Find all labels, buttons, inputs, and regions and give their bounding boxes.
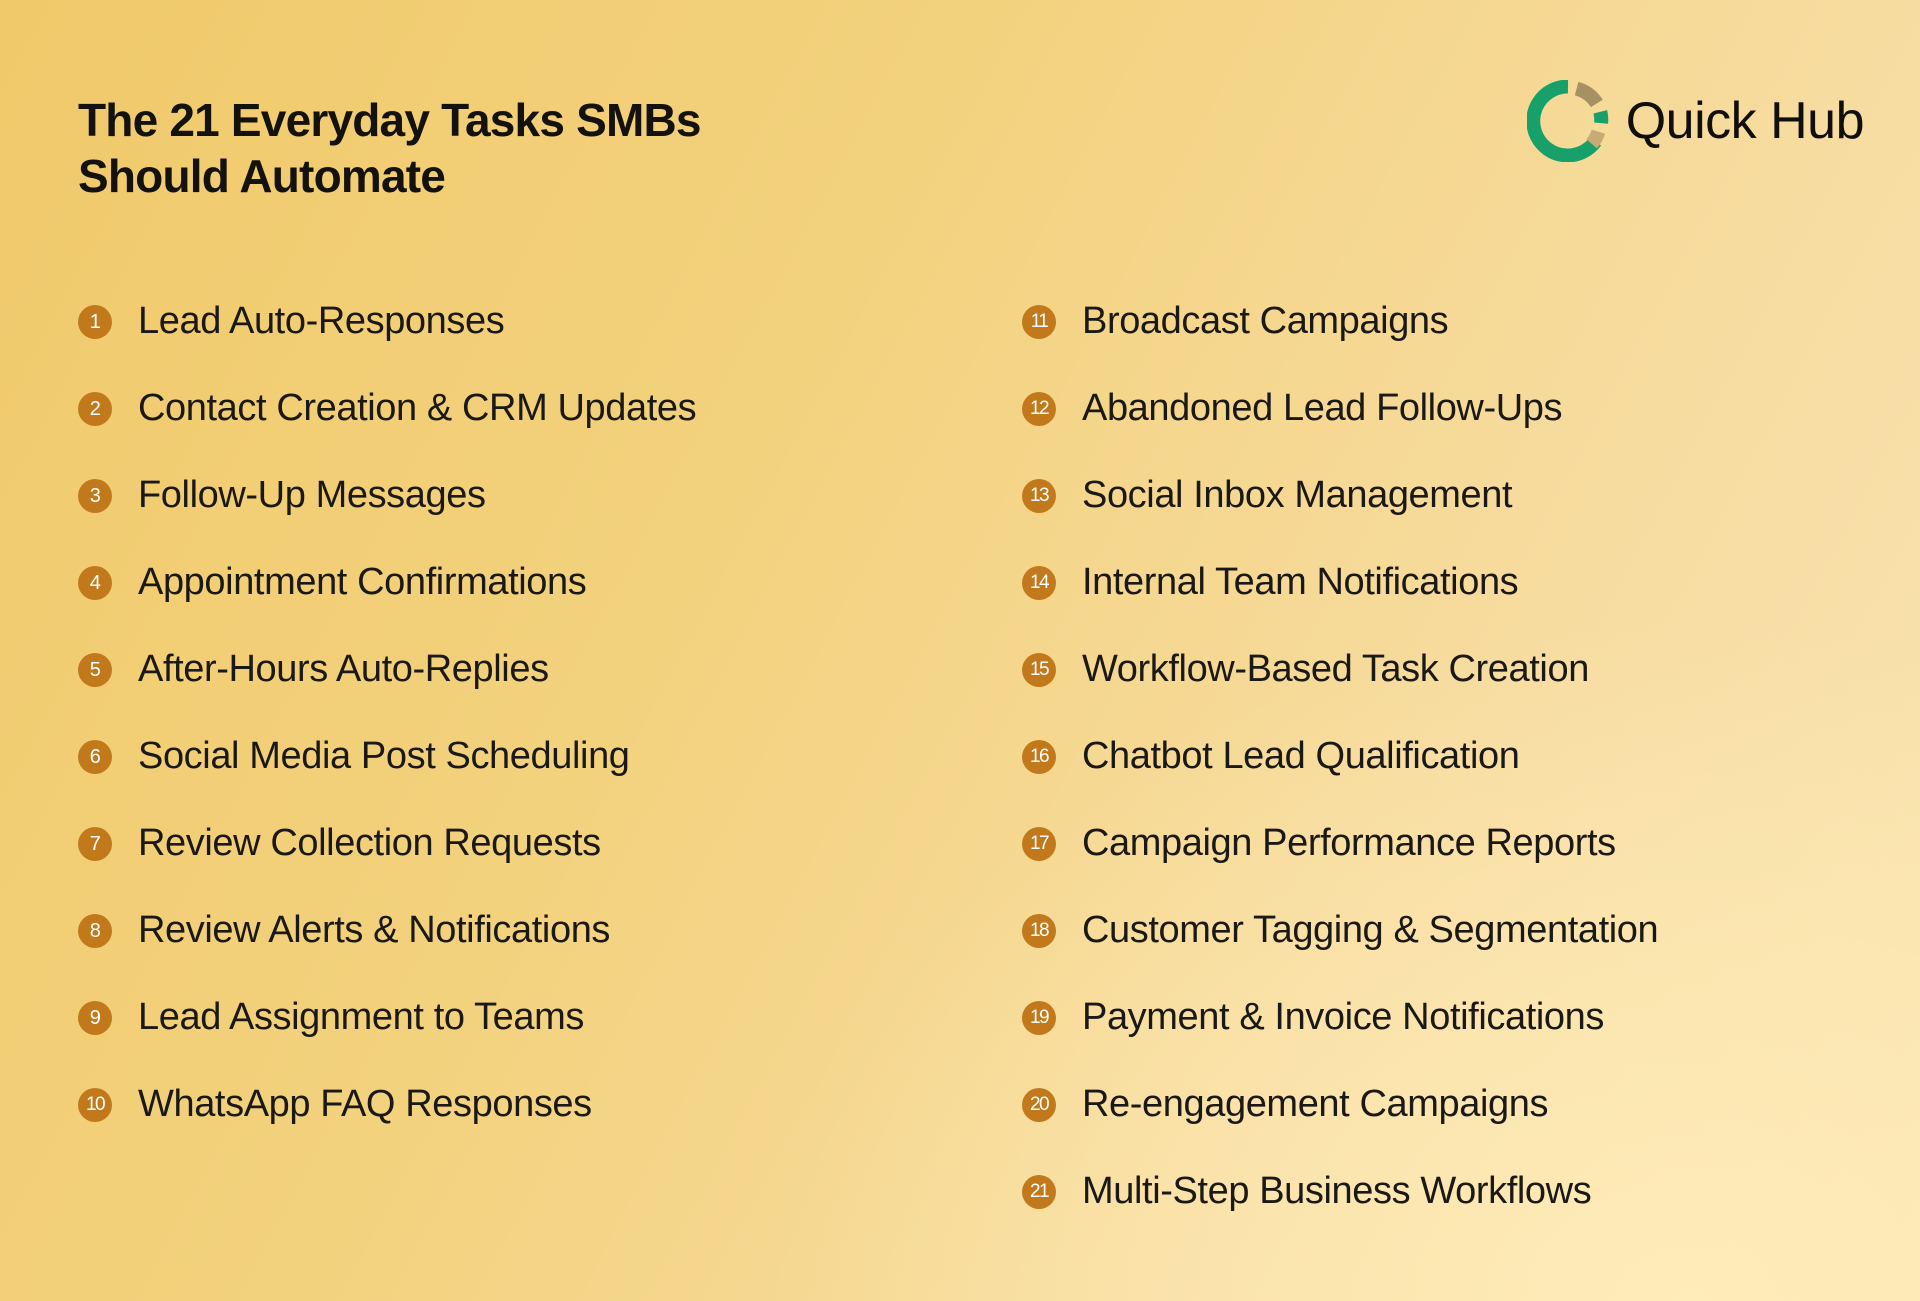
task-column-left: 1Lead Auto-Responses2Contact Creation & …: [0, 278, 1000, 1235]
task-item: 1Lead Auto-Responses: [78, 278, 1000, 365]
task-item: 4Appointment Confirmations: [78, 539, 1000, 626]
task-label: Customer Tagging & Segmentation: [1082, 909, 1658, 952]
task-label: Lead Auto-Responses: [138, 300, 504, 343]
task-label: Re-engagement Campaigns: [1082, 1083, 1548, 1126]
task-number-badge: 12: [1022, 392, 1056, 426]
header: The 21 Everyday Tasks SMBs Should Automa…: [0, 0, 1920, 215]
task-number-badge: 5: [78, 653, 112, 687]
infographic-canvas: The 21 Everyday Tasks SMBs Should Automa…: [0, 0, 1920, 1301]
task-item: 6Social Media Post Scheduling: [78, 713, 1000, 800]
task-list-right: 11Broadcast Campaigns12Abandoned Lead Fo…: [1022, 278, 1920, 1235]
brand-name: Quick Hub: [1626, 95, 1864, 147]
task-item: 19Payment & Invoice Notifications: [1022, 974, 1920, 1061]
task-number-badge: 8: [78, 914, 112, 948]
task-item: 5After-Hours Auto-Replies: [78, 626, 1000, 713]
task-item: 20Re-engagement Campaigns: [1022, 1061, 1920, 1148]
brand-logo: Quick Hub: [1527, 80, 1864, 162]
task-item: 18Customer Tagging & Segmentation: [1022, 887, 1920, 974]
task-label: Abandoned Lead Follow-Ups: [1082, 387, 1562, 430]
segmented-donut-icon: [1527, 80, 1609, 162]
task-column-right: 11Broadcast Campaigns12Abandoned Lead Fo…: [1000, 278, 1920, 1235]
task-number-badge: 16: [1022, 740, 1056, 774]
task-list-left: 1Lead Auto-Responses2Contact Creation & …: [78, 278, 1000, 1148]
task-item: 10WhatsApp FAQ Responses: [78, 1061, 1000, 1148]
task-item: 17Campaign Performance Reports: [1022, 800, 1920, 887]
task-label: Workflow-Based Task Creation: [1082, 648, 1589, 691]
task-columns: 1Lead Auto-Responses2Contact Creation & …: [0, 278, 1920, 1235]
task-item: 7Review Collection Requests: [78, 800, 1000, 887]
task-item: 2Contact Creation & CRM Updates: [78, 365, 1000, 452]
task-item: 16Chatbot Lead Qualification: [1022, 713, 1920, 800]
task-label: Payment & Invoice Notifications: [1082, 996, 1604, 1039]
task-label: Follow-Up Messages: [138, 474, 486, 517]
task-label: Internal Team Notifications: [1082, 561, 1518, 604]
task-label: Multi-Step Business Workflows: [1082, 1170, 1591, 1213]
task-item: 9Lead Assignment to Teams: [78, 974, 1000, 1061]
task-item: 12Abandoned Lead Follow-Ups: [1022, 365, 1920, 452]
task-number-badge: 6: [78, 740, 112, 774]
task-item: 3Follow-Up Messages: [78, 452, 1000, 539]
task-number-badge: 11: [1022, 305, 1056, 339]
task-label: Broadcast Campaigns: [1082, 300, 1448, 343]
task-label: Review Collection Requests: [138, 822, 601, 865]
task-number-badge: 7: [78, 827, 112, 861]
task-number-badge: 4: [78, 566, 112, 600]
task-number-badge: 14: [1022, 566, 1056, 600]
task-item: 14Internal Team Notifications: [1022, 539, 1920, 626]
task-item: 21Multi-Step Business Workflows: [1022, 1148, 1920, 1235]
task-label: Chatbot Lead Qualification: [1082, 735, 1519, 778]
task-label: WhatsApp FAQ Responses: [138, 1083, 592, 1126]
page-title: The 21 Everyday Tasks SMBs Should Automa…: [78, 92, 701, 204]
task-number-badge: 18: [1022, 914, 1056, 948]
task-number-badge: 19: [1022, 1001, 1056, 1035]
task-item: 11Broadcast Campaigns: [1022, 278, 1920, 365]
task-number-badge: 2: [78, 392, 112, 426]
task-number-badge: 20: [1022, 1088, 1056, 1122]
task-label: Social Media Post Scheduling: [138, 735, 630, 778]
task-label: Review Alerts & Notifications: [138, 909, 610, 952]
task-label: Contact Creation & CRM Updates: [138, 387, 696, 430]
task-number-badge: 1: [78, 305, 112, 339]
task-label: Social Inbox Management: [1082, 474, 1512, 517]
task-number-badge: 3: [78, 479, 112, 513]
task-number-badge: 10: [78, 1088, 112, 1122]
task-number-badge: 15: [1022, 653, 1056, 687]
task-item: 8Review Alerts & Notifications: [78, 887, 1000, 974]
task-number-badge: 17: [1022, 827, 1056, 861]
task-number-badge: 21: [1022, 1175, 1056, 1209]
task-label: Campaign Performance Reports: [1082, 822, 1616, 865]
task-label: Appointment Confirmations: [138, 561, 586, 604]
task-label: Lead Assignment to Teams: [138, 996, 584, 1039]
task-number-badge: 13: [1022, 479, 1056, 513]
task-number-badge: 9: [78, 1001, 112, 1035]
task-label: After-Hours Auto-Replies: [138, 648, 549, 691]
task-item: 15Workflow-Based Task Creation: [1022, 626, 1920, 713]
task-item: 13Social Inbox Management: [1022, 452, 1920, 539]
